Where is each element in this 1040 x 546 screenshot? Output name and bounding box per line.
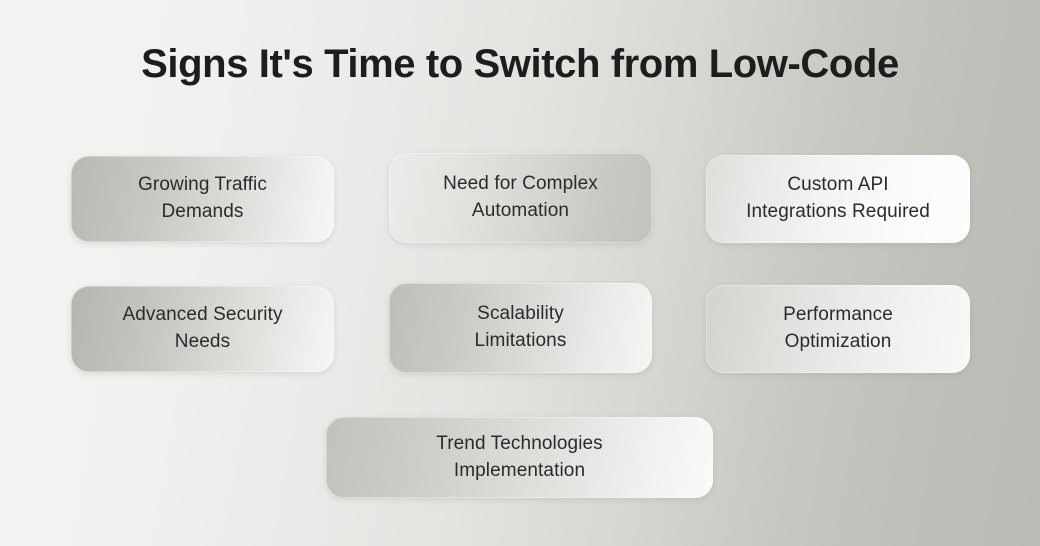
card-line-1: Trend Technologies xyxy=(436,431,603,458)
card-text: Advanced Security Needs xyxy=(122,302,282,356)
card-need-for-complex-automation[interactable]: Need for Complex Automation xyxy=(389,153,652,243)
card-line-2: Integrations Required xyxy=(746,199,930,226)
card-line-1: Advanced Security xyxy=(122,302,282,329)
card-line-1: Scalability xyxy=(475,301,567,328)
card-growing-traffic-demands[interactable]: Growing Traffic Demands xyxy=(71,156,334,242)
card-text: Scalability Limitations xyxy=(475,301,567,355)
card-trend-technologies-implementation[interactable]: Trend Technologies Implementation xyxy=(326,417,713,498)
card-line-1: Growing Traffic xyxy=(138,172,267,199)
card-scalability-limitations[interactable]: Scalability Limitations xyxy=(389,283,652,373)
card-advanced-security-needs[interactable]: Advanced Security Needs xyxy=(71,286,334,372)
card-line-2: Automation xyxy=(443,198,598,225)
card-text: Need for Complex Automation xyxy=(443,171,598,225)
slide-canvas: Signs It's Time to Switch from Low-Code … xyxy=(0,0,1040,546)
card-line-2: Implementation xyxy=(436,458,603,485)
card-custom-api-integrations-required[interactable]: Custom API Integrations Required xyxy=(706,155,970,243)
card-line-1: Need for Complex xyxy=(443,171,598,198)
card-performance-optimization[interactable]: Performance Optimization xyxy=(706,285,970,373)
card-text: Custom API Integrations Required xyxy=(746,172,930,226)
card-text: Performance Optimization xyxy=(783,302,893,356)
card-text: Growing Traffic Demands xyxy=(138,172,267,226)
card-line-2: Demands xyxy=(138,199,267,226)
card-line-1: Performance xyxy=(783,302,893,329)
card-text: Trend Technologies Implementation xyxy=(436,431,603,485)
card-line-2: Needs xyxy=(122,329,282,356)
page-title: Signs It's Time to Switch from Low-Code xyxy=(0,40,1040,88)
card-line-2: Optimization xyxy=(783,329,893,356)
card-line-1: Custom API xyxy=(746,172,930,199)
card-line-2: Limitations xyxy=(475,328,567,355)
